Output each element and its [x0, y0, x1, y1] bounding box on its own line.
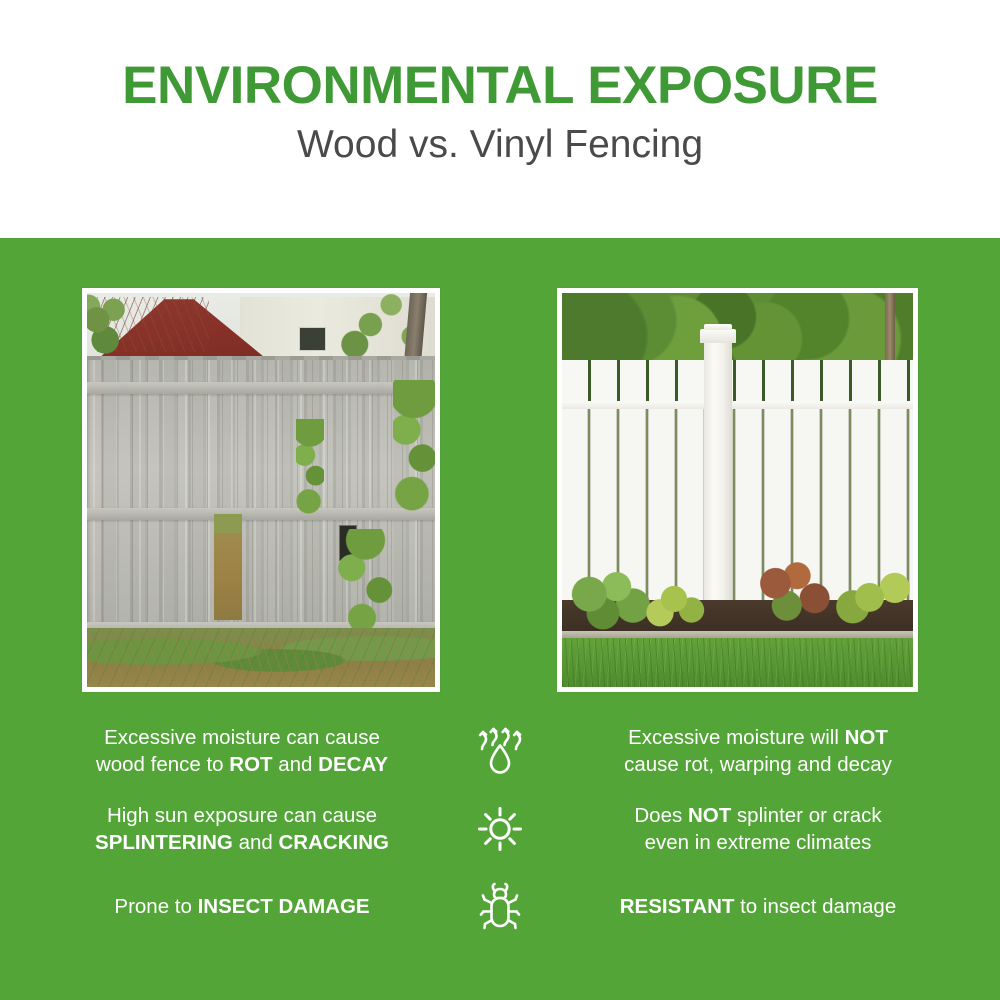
- vinyl-sun-text: Does NOT splinter or crackeven in extrem…: [545, 802, 955, 857]
- fence-rail-top: [87, 382, 435, 395]
- comparison-rows: Excessive moisture can causewood fence t…: [0, 712, 1000, 946]
- sun-icon: [455, 806, 545, 852]
- comparison-row-moisture: Excessive moisture can causewood fence t…: [0, 712, 1000, 790]
- vine-growth-right: [393, 380, 435, 522]
- picket-tops: [562, 360, 913, 403]
- shrub-center: [745, 557, 833, 632]
- vinyl-insect-text: RESISTANT to insect damage: [545, 893, 955, 920]
- comparison-row-insect: Prone to INSECT DAMAGE: [0, 868, 1000, 946]
- lawn: [562, 638, 913, 687]
- insect-bug-icon: [455, 882, 545, 932]
- ornamental-grass: [646, 577, 716, 632]
- shrub-left: [562, 569, 653, 632]
- header: ENVIRONMENTAL EXPOSURE Wood vs. Vinyl Fe…: [0, 0, 1000, 238]
- wood-insect-text: Prone to INSECT DAMAGE: [45, 893, 455, 920]
- fence-rail-middle: [87, 508, 435, 521]
- vinyl-moisture-text: Excessive moisture will NOTcause rot, wa…: [545, 724, 955, 779]
- wood-fence-photo-frame: [82, 288, 440, 692]
- post-cap: [700, 329, 737, 342]
- vine-growth-lower: [331, 529, 401, 639]
- vinyl-fence-photo: [562, 293, 913, 687]
- missing-board-gap: [214, 514, 242, 620]
- page-title: ENVIRONMENTAL EXPOSURE: [122, 58, 878, 114]
- shrub-right: [836, 569, 913, 632]
- tree-foliage-left: [87, 293, 136, 360]
- overgrown-ground: [87, 628, 435, 687]
- comparison-row-sun: High sun exposure can causeSPLINTERING a…: [0, 790, 1000, 868]
- moisture-evaporation-icon: [455, 726, 545, 776]
- wood-fence-photo: [87, 293, 435, 687]
- vine-growth-center: [296, 419, 324, 521]
- infographic-root: ENVIRONMENTAL EXPOSURE Wood vs. Vinyl Fe…: [0, 0, 1000, 1000]
- wood-sun-text: High sun exposure can causeSPLINTERING a…: [45, 802, 455, 857]
- page-subtitle: Wood vs. Vinyl Fencing: [297, 124, 703, 167]
- wood-moisture-text: Excessive moisture can causewood fence t…: [45, 724, 455, 779]
- vinyl-fence-photo-frame: [557, 288, 918, 692]
